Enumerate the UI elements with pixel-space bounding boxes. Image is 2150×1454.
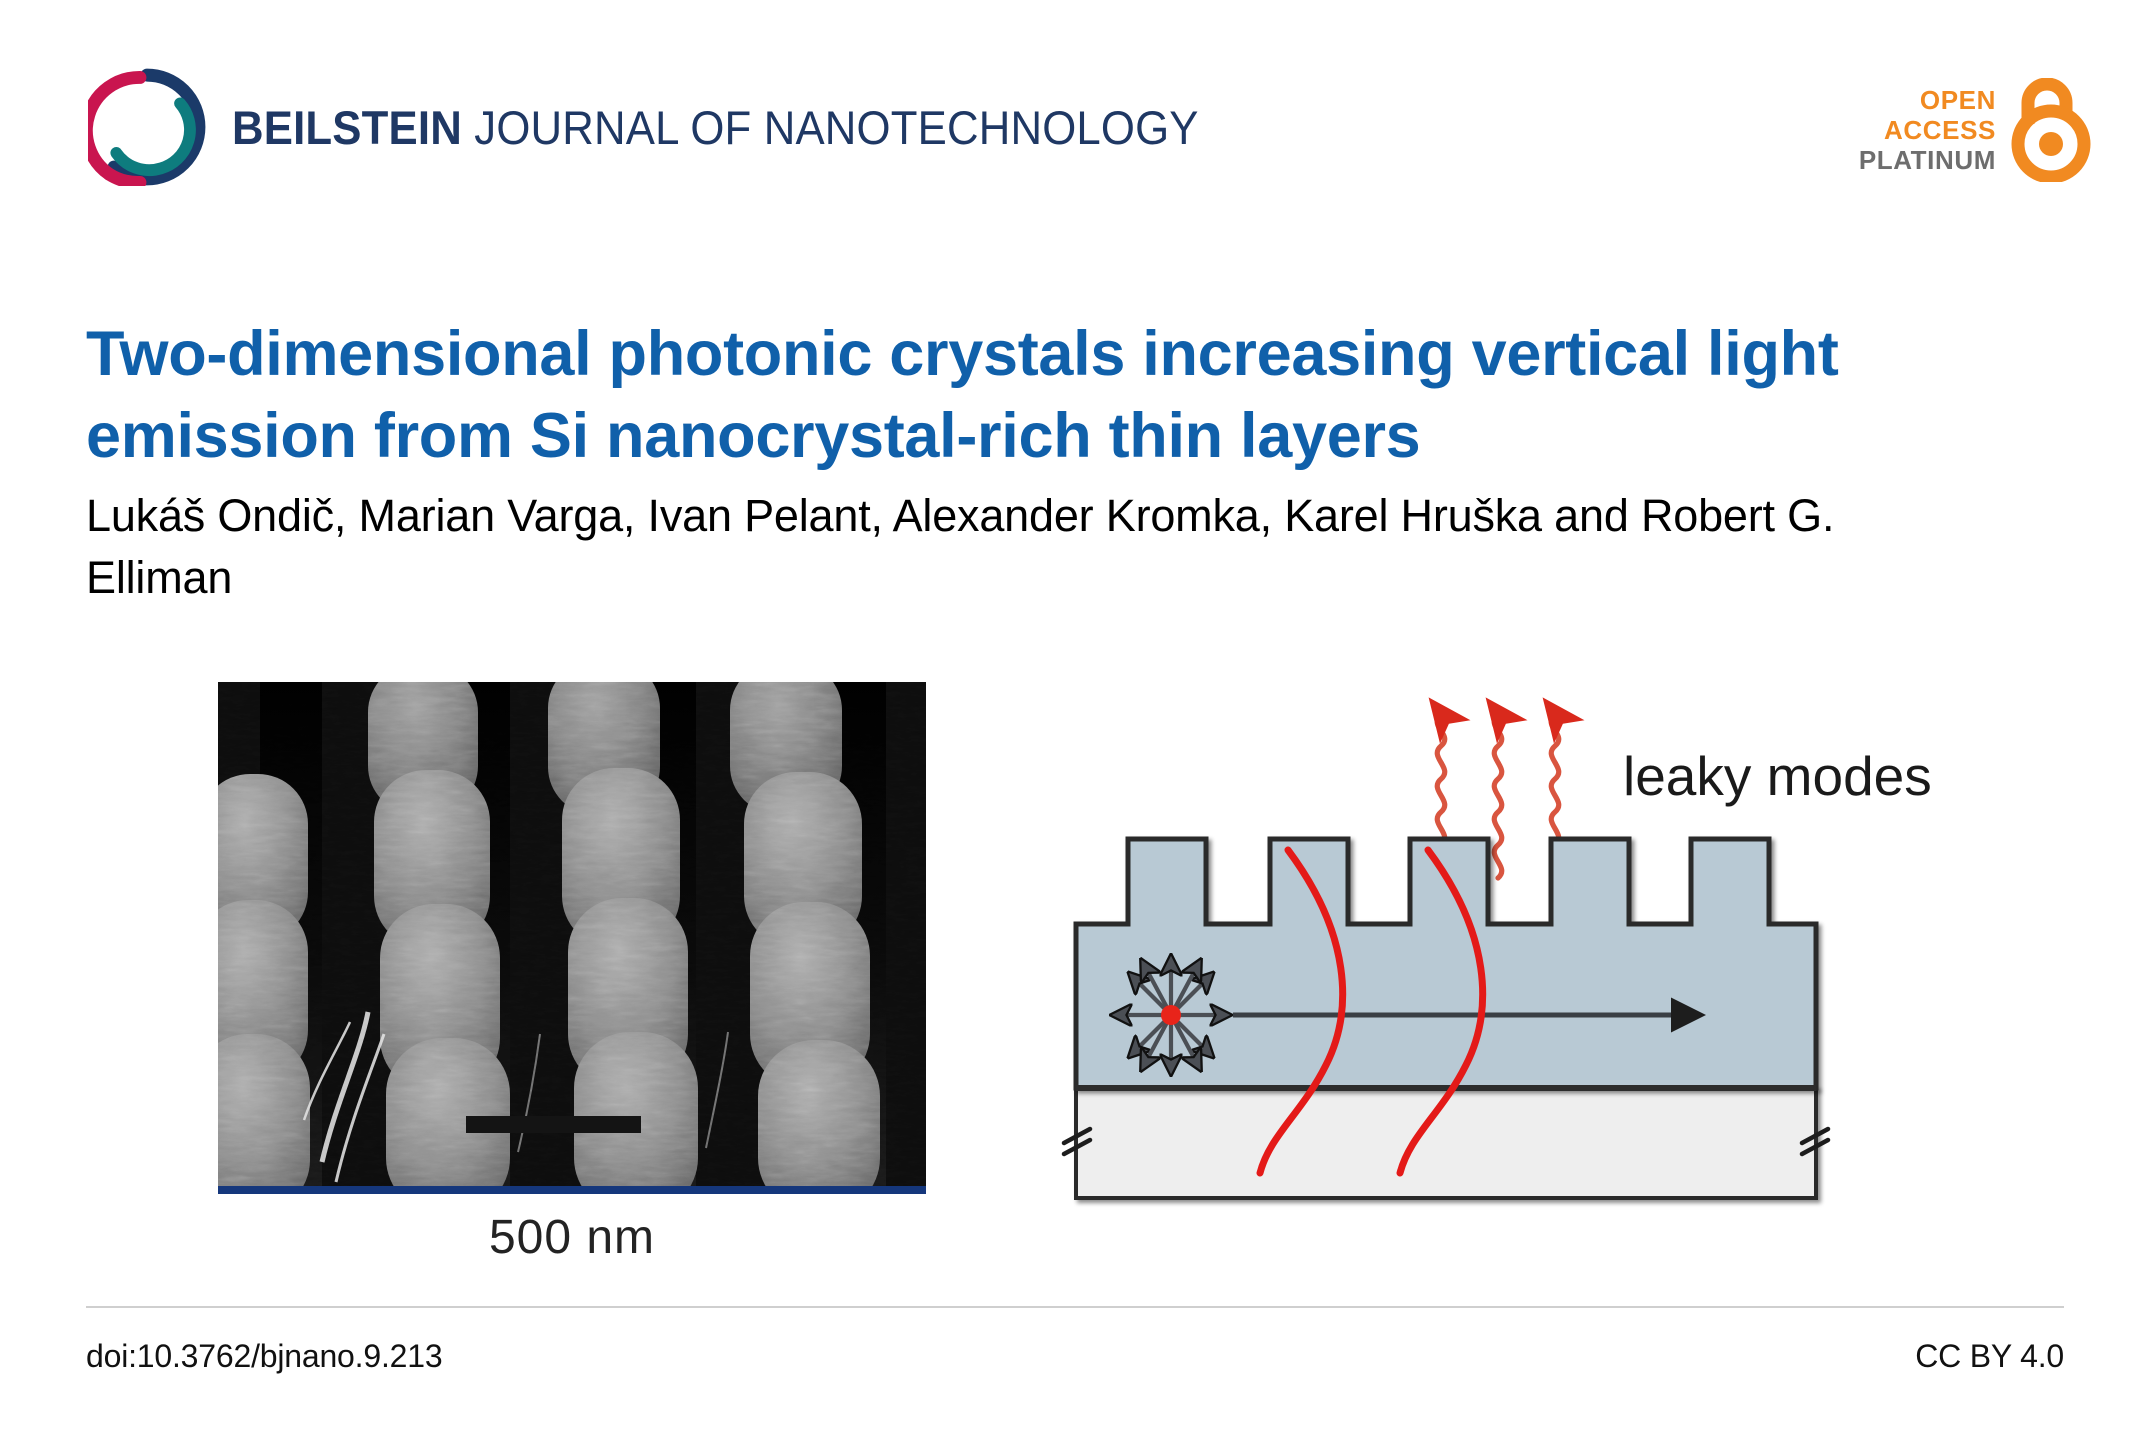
- leaky-mode-grating-schematic: leaky modes: [1058, 665, 1998, 1225]
- wordmark-journal-of-nanotechnology: JOURNAL OF NANOTECHNOLOGY: [462, 101, 1199, 154]
- open-access-label-block: OPEN ACCESS PLATINUM: [1859, 85, 1996, 175]
- journal-branding: BEILSTEIN JOURNAL OF NANOTECHNOLOGY: [88, 68, 1271, 186]
- footer-divider: [86, 1306, 2064, 1308]
- leaky-modes-label: leaky modes: [1623, 745, 1932, 807]
- journal-wordmark: BEILSTEIN JOURNAL OF NANOTECHNOLOGY: [232, 100, 1199, 155]
- schematic-panel: leaky modes: [1058, 665, 1998, 1225]
- wordmark-beilstein: BEILSTEIN: [232, 101, 462, 154]
- graphical-abstract-figures: 500 nm: [0, 665, 2150, 1265]
- license-text: CC BY 4.0: [1915, 1338, 2064, 1375]
- scale-bar: [466, 1116, 641, 1133]
- sem-micrograph-nanopillars: [218, 682, 926, 1194]
- oa-line-platinum: PLATINUM: [1859, 145, 1996, 175]
- oa-line-open: OPEN: [1859, 85, 1996, 115]
- doi-text: doi:10.3762/bjnano.9.213: [86, 1338, 442, 1375]
- emitter-point: [1161, 1005, 1181, 1025]
- sem-panel: 500 nm: [218, 682, 926, 1202]
- oa-line-access: ACCESS: [1859, 115, 1996, 145]
- page-header: BEILSTEIN JOURNAL OF NANOTECHNOLOGY OPEN…: [0, 0, 2150, 200]
- isotropic-emitter-star: [1113, 957, 1229, 1073]
- beilstein-spiral-logo-icon: [88, 68, 206, 186]
- scalebar-caption: 500 nm: [218, 1210, 926, 1265]
- open-access-platinum-badge: OPEN ACCESS PLATINUM: [1859, 78, 2092, 182]
- open-lock-icon: [2010, 78, 2092, 182]
- sem-bottom-strip: [218, 1186, 926, 1194]
- substrate-layer: [1076, 1088, 1816, 1198]
- author-list: Lukáš Ondič, Marian Varga, Ivan Pelant, …: [86, 485, 1936, 609]
- article-title: Two-dimensional photonic crystals increa…: [86, 314, 2046, 478]
